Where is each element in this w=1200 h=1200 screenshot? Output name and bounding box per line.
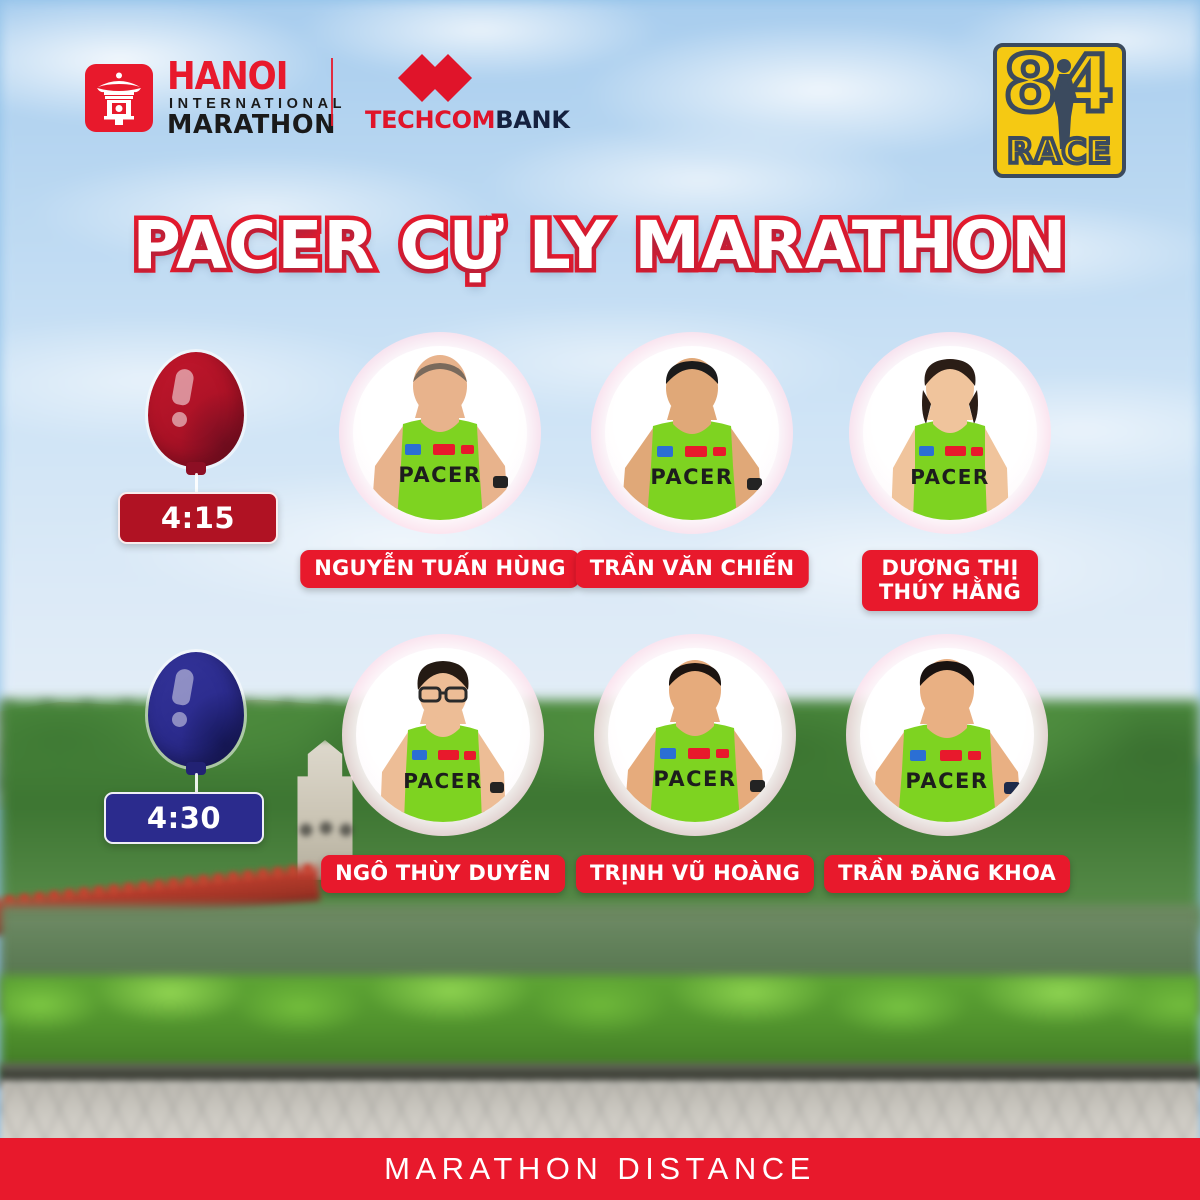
hanoi-logo-line1: HANOI: [167, 57, 346, 95]
techcombank-name-dark: BANK: [495, 106, 569, 134]
pacer-name-tag: TRỊNH VŨ HOÀNG: [576, 855, 814, 893]
header: HANOI INTERNATIONAL MARATHON TECHCOMBANK…: [0, 0, 1200, 190]
pagoda-icon: [85, 64, 153, 132]
pacer-card[interactable]: PACER NGÔ THÙY DUYÊN: [348, 640, 538, 830]
portrait-photo: PACER: [608, 648, 782, 822]
runner-figure-icon: PACER: [608, 648, 782, 822]
pace-badge-415[interactable]: 4:15: [118, 492, 278, 544]
pacer-portrait: PACER: [597, 338, 787, 528]
pagoda-glyph: [92, 71, 146, 125]
pacer-card[interactable]: PACER DƯƠNG THỊ THÚY HẰNG: [855, 338, 1045, 528]
balloon-icon: [148, 352, 244, 467]
race84-logo: 84 RACE: [993, 43, 1126, 178]
runner-figure-icon: PACER: [605, 346, 779, 520]
runner-figure-icon: PACER: [863, 346, 1037, 520]
pacer-portrait: PACER: [852, 640, 1042, 830]
hanoi-marathon-logo: HANOI INTERNATIONAL MARATHON: [85, 57, 346, 138]
pacer-name-tag: TRẦN ĐĂNG KHOA: [824, 855, 1070, 893]
pacer-card[interactable]: PACER TRỊNH VŨ HOÀNG: [600, 640, 790, 830]
techcombank-name-red: TECHCOM: [365, 106, 495, 134]
pacer-portrait: PACER: [855, 338, 1045, 528]
balloon-icon: [148, 652, 244, 767]
techcombank-diamonds-icon: [365, 56, 540, 100]
footer-banner: MARATHON DISTANCE: [0, 1138, 1200, 1200]
pacer-name-tag: NGÔ THÙY DUYÊN: [321, 855, 565, 893]
pacer-name-tag: NGUYỄN TUẤN HÙNG: [300, 550, 579, 588]
logo-divider: [331, 58, 333, 126]
pacer-name-tag: TRẦN VĂN CHIẾN: [576, 550, 809, 588]
svg-text:PACER: PACER: [910, 465, 990, 489]
portrait-photo: PACER: [353, 346, 527, 520]
techcombank-logo: TECHCOMBANK: [365, 56, 540, 134]
portrait-photo: PACER: [860, 648, 1034, 822]
pacer-portrait: PACER: [348, 640, 538, 830]
portrait-photo: PACER: [605, 346, 779, 520]
svg-text:PACER: PACER: [403, 769, 483, 793]
runner-figure-icon: PACER: [860, 648, 1034, 822]
svg-text:PACER: PACER: [398, 463, 481, 487]
portrait-photo: PACER: [863, 346, 1037, 520]
pace-badge-430[interactable]: 4:30: [104, 792, 264, 844]
pacer-card[interactable]: PACER TRẦN ĐĂNG KHOA: [852, 640, 1042, 830]
svg-text:PACER: PACER: [653, 767, 736, 791]
race84-word: RACE: [997, 132, 1122, 172]
portrait-photo: PACER: [356, 648, 530, 822]
pacer-card[interactable]: PACER TRẦN VĂN CHIẾN: [597, 338, 787, 528]
runner-figure-icon: PACER: [356, 648, 530, 822]
svg-text:PACER: PACER: [905, 769, 988, 793]
pacer-portrait: PACER: [600, 640, 790, 830]
pacer-portrait: PACER: [345, 338, 535, 528]
page-title: PACER CỰ LY MARATHON: [0, 207, 1200, 284]
techcombank-wordmark: TECHCOMBANK: [365, 106, 540, 134]
hanoi-logo-text: HANOI INTERNATIONAL MARATHON: [167, 57, 346, 138]
pacer-name-tag: DƯƠNG THỊ THÚY HẰNG: [862, 550, 1038, 611]
svg-text:PACER: PACER: [650, 465, 733, 489]
hanoi-logo-line3: MARATHON: [167, 113, 346, 139]
footer-text: MARATHON DISTANCE: [384, 1151, 816, 1187]
runner-figure-icon: PACER: [353, 346, 527, 520]
pacer-card[interactable]: PACER NGUYỄN TUẤN HÙNG: [345, 338, 535, 528]
